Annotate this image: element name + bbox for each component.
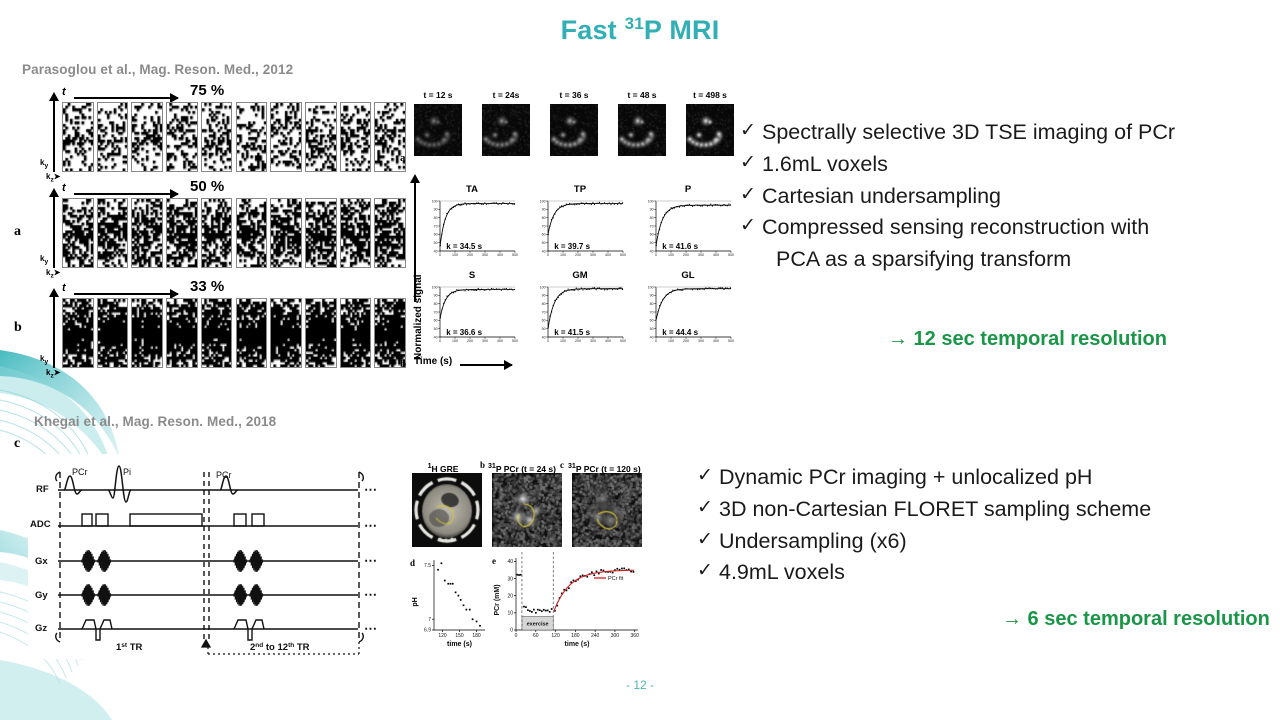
pcr-timestamp: t = 12 s [414, 90, 462, 100]
floret-panel-b: b [480, 460, 485, 470]
figure-kspace-undersampling: a b c 75 % t ky kz➤ 50 % t ky kz➤ 33 % t… [14, 84, 406, 376]
channel-label-adc: ADC [30, 519, 51, 530]
panel-label-c: c [14, 436, 20, 452]
recovery-plot-title: GL [642, 270, 734, 281]
pcr-timestamp: t = 24s [482, 90, 530, 100]
slide-title-tail: P MRI [644, 15, 720, 45]
recovery-plot-k-value: k = 36.6 s [446, 328, 482, 337]
kspace-axis-kz-3: kz➤ [46, 368, 60, 380]
bullet-text: 3D non-Cartesian FLORET sampling scheme [719, 494, 1272, 526]
ellipsis-gy: ⋯ [364, 587, 377, 602]
kspace-row-75: 75 % t ky kz➤ [14, 84, 406, 176]
kspace-row-33: 33 % t ky kz➤ [14, 280, 406, 376]
figure-pulse-sequence: RF ADC Gx Gy Gz [28, 454, 396, 659]
kspace-mask [270, 298, 302, 368]
panel-label-pcr-b: b [400, 358, 406, 370]
rf-label-pcr-2: PCr [216, 470, 232, 480]
kspace-axis-ky-3: ky [40, 354, 48, 366]
kspace-mask [62, 298, 94, 368]
pcr-muscle-image [550, 104, 598, 156]
recovery-plot-title: GM [534, 270, 626, 281]
plot-pcr [490, 550, 643, 656]
bullet-text: Undersampling (x6) [719, 526, 1272, 558]
bullet-item: ✓Undersampling (x6) [697, 526, 1272, 558]
rf-label-pcr-1: PCr [72, 467, 88, 477]
recovery-plot: Sk = 36.6 s [426, 282, 518, 348]
recovery-plot: GMk = 41.5 s [534, 282, 626, 348]
kspace-mask [131, 198, 163, 268]
pcr-timestamp: t = 36 s [550, 90, 598, 100]
pcr-muscle-image [686, 104, 734, 156]
kspace-axis-ky-1: ky [40, 158, 48, 170]
kspace-mask [201, 198, 233, 268]
kspace-mask [305, 102, 337, 172]
kspace-mask [305, 298, 337, 368]
figure-floret-results: 1H GRE b 31P PCr (t = 24 s) c 31P PCr (t… [408, 462, 643, 658]
bullet-text: Spectrally selective 3D TSE imaging of P… [762, 117, 1274, 149]
check-icon: ✓ [740, 212, 762, 241]
kspace-axis-kz-2: kz➤ [46, 268, 60, 280]
check-icon: ✓ [697, 462, 719, 491]
kspace-masks-75 [62, 102, 406, 172]
gradient-train [98, 584, 111, 606]
recovery-plot-k-value: k = 44.4 s [662, 328, 698, 337]
recovery-plot-title: TA [426, 184, 518, 195]
kspace-mask [236, 198, 268, 268]
citation-top: Parasoglou et al., Mag. Reson. Med., 201… [22, 62, 293, 77]
kspace-time-arrow-2 [74, 193, 178, 195]
recovery-plot-canvas [642, 196, 734, 262]
slide-title-main: Fast [561, 15, 625, 45]
recovery-plot-canvas [534, 282, 626, 348]
pcr-image-series: t = 12 st = 24st = 36 st = 48 st = 498 s [414, 90, 735, 170]
plot-ph [408, 550, 488, 656]
channel-label-gz: Gz [35, 623, 47, 634]
bullet-item: ✓Compressed sensing reconstruction withP… [740, 212, 1274, 276]
kspace-mask [340, 198, 372, 268]
tr-label-rest: 2nd to 12th TR [250, 642, 310, 653]
kspace-mask [166, 298, 198, 368]
recovery-plot: TAk = 34.5 s [426, 196, 518, 262]
kspace-mask [97, 298, 129, 368]
gradient-train [234, 550, 247, 572]
kspace-mask [340, 298, 372, 368]
kspace-row-50: 50 % t ky kz➤ [14, 180, 406, 272]
kspace-mask [340, 102, 372, 172]
pcr-muscle-image [482, 104, 530, 156]
recovery-plot-title: TP [534, 184, 626, 195]
recovery-plot: TPk = 39.7 s [534, 196, 626, 262]
kspace-mask [201, 298, 233, 368]
ellipsis-rf: ⋯ [364, 482, 377, 497]
kspace-percent-33: 33 % [190, 278, 224, 295]
kspace-mask [270, 198, 302, 268]
recovery-plot-title: P [642, 184, 734, 195]
pcr-muscle-image [618, 104, 666, 156]
ph-plot-canvas [408, 550, 488, 656]
recovery-plot-k-value: k = 34.5 s [446, 242, 482, 251]
kspace-mask [166, 102, 198, 172]
bullet-text: Dynamic PCr imaging + unlocalized pH [719, 462, 1272, 494]
bullet-text: 4.9mL voxels [719, 557, 1272, 589]
gradient-train [234, 584, 247, 606]
ellipsis-gx: ⋯ [364, 553, 377, 568]
bullet-list-bottom: ✓Dynamic PCr imaging + unlocalized pH✓3D… [697, 462, 1272, 589]
kspace-masks-33 [62, 298, 406, 368]
axis-label-normalized-signal: Normalized signal [413, 274, 424, 360]
kspace-mask [97, 198, 129, 268]
pcr-timestamp: t = 498 s [686, 90, 734, 100]
kspace-time-arrow-1 [74, 97, 178, 99]
kspace-axis-ky-2: ky [40, 254, 48, 266]
floret-image-row [412, 473, 643, 547]
kspace-mask [131, 102, 163, 172]
kspace-mask [131, 298, 163, 368]
recovery-plot-canvas [534, 196, 626, 262]
recovery-plot-canvas [642, 282, 734, 348]
kspace-mask [97, 102, 129, 172]
recovery-plot-title: S [426, 270, 518, 281]
kspace-percent-75: 75 % [190, 82, 224, 99]
recovery-plot-k-value: k = 41.6 s [662, 242, 698, 251]
recovery-plot: Pk = 41.6 s [642, 196, 734, 262]
kspace-ky-arrow-2 [53, 196, 55, 268]
conclusion-top: → 12 sec temporal resolution [888, 328, 1167, 351]
kspace-mask [236, 102, 268, 172]
panel-label-pcr-a: a [400, 152, 406, 164]
rf-label-pi: Pi [123, 467, 131, 477]
kspace-time-label-3: t [62, 282, 66, 294]
bullet-item: ✓4.9mL voxels [697, 557, 1272, 589]
time-axis-arrow [460, 364, 512, 366]
bullet-item: ✓Cartesian undersampling [740, 181, 1274, 213]
gradient-train [82, 550, 95, 572]
bullet-item: ✓Spectrally selective 3D TSE imaging of … [740, 117, 1274, 149]
kspace-mask [270, 102, 302, 172]
check-icon: ✓ [697, 557, 719, 586]
kspace-mask [62, 198, 94, 268]
kspace-time-label-1: t [62, 86, 66, 98]
kspace-mask [201, 102, 233, 172]
kspace-masks-50 [62, 198, 406, 268]
recovery-curve-grid: TAk = 34.5 sTPk = 39.7 sPk = 41.6 sSk = … [426, 184, 735, 350]
kspace-mask [166, 198, 198, 268]
pcr-floret-image [492, 473, 562, 547]
slide-title-superscript: 31 [625, 14, 644, 33]
bullet-item: ✓Dynamic PCr imaging + unlocalized pH [697, 462, 1272, 494]
pulse-sequence-svg: RF ADC Gx Gy Gz [28, 454, 396, 659]
recovery-plot: GLk = 44.4 s [642, 282, 734, 348]
recovery-plot-canvas [426, 196, 518, 262]
page-number: - 12 - [0, 678, 1280, 692]
bullet-text: Compressed sensing reconstruction withPC… [762, 212, 1274, 276]
bullet-text: Cartesian undersampling [762, 181, 1274, 213]
pcr-floret-image [572, 473, 642, 547]
ellipsis-adc: ⋯ [364, 518, 377, 533]
bullet-text-continued: PCA as a sparsifying transform [762, 244, 1274, 276]
pcr-plot-canvas [490, 550, 643, 656]
kspace-mask [305, 198, 337, 268]
gradient-train [98, 550, 111, 572]
gradient-train [250, 550, 263, 572]
conclusion-bottom: → 6 sec temporal resolution [1002, 608, 1270, 631]
anatomical-gre-image [412, 473, 482, 547]
check-icon: ✓ [697, 526, 719, 555]
kspace-mask [62, 102, 94, 172]
floret-panel-c: c [560, 460, 564, 470]
axis-label-time: Time (s) [414, 356, 452, 367]
kspace-mask [236, 298, 268, 368]
bullet-item: ✓3D non-Cartesian FLORET sampling scheme [697, 494, 1272, 526]
slide-title: Fast 31P MRI [0, 14, 1280, 46]
kspace-time-label-2: t [62, 182, 66, 194]
gradient-train [82, 584, 95, 606]
kspace-percent-50: 50 % [190, 178, 224, 195]
citation-bottom: Khegai et al., Mag. Reson. Med., 2018 [34, 414, 276, 429]
check-icon: ✓ [697, 494, 719, 523]
figure-pcr-dynamics: a b t = 12 st = 24st = 36 st = 48 st = 4… [400, 90, 735, 375]
channel-label-gy: Gy [35, 590, 48, 601]
bullet-text: 1.6mL voxels [762, 149, 1274, 181]
kspace-ky-arrow-1 [53, 100, 55, 172]
recovery-plot-k-value: k = 41.5 s [554, 328, 590, 337]
check-icon: ✓ [740, 181, 762, 210]
pcr-timestamp: t = 48 s [618, 90, 666, 100]
bullet-item: ✓1.6mL voxels [740, 149, 1274, 181]
check-icon: ✓ [740, 117, 762, 146]
channel-label-gx: Gx [35, 556, 48, 567]
ellipsis-gz: ⋯ [364, 621, 377, 636]
check-icon: ✓ [740, 149, 762, 178]
channel-label-rf: RF [36, 484, 49, 495]
recovery-plot-k-value: k = 39.7 s [554, 242, 590, 251]
recovery-plot-canvas [426, 282, 518, 348]
gradient-train [250, 584, 263, 606]
tr-label-first: 1st TR [116, 642, 143, 653]
bullet-list-top: ✓Spectrally selective 3D TSE imaging of … [740, 117, 1274, 276]
pcr-muscle-image [414, 104, 462, 156]
kspace-ky-arrow-3 [53, 296, 55, 368]
kspace-time-arrow-3 [74, 293, 178, 295]
